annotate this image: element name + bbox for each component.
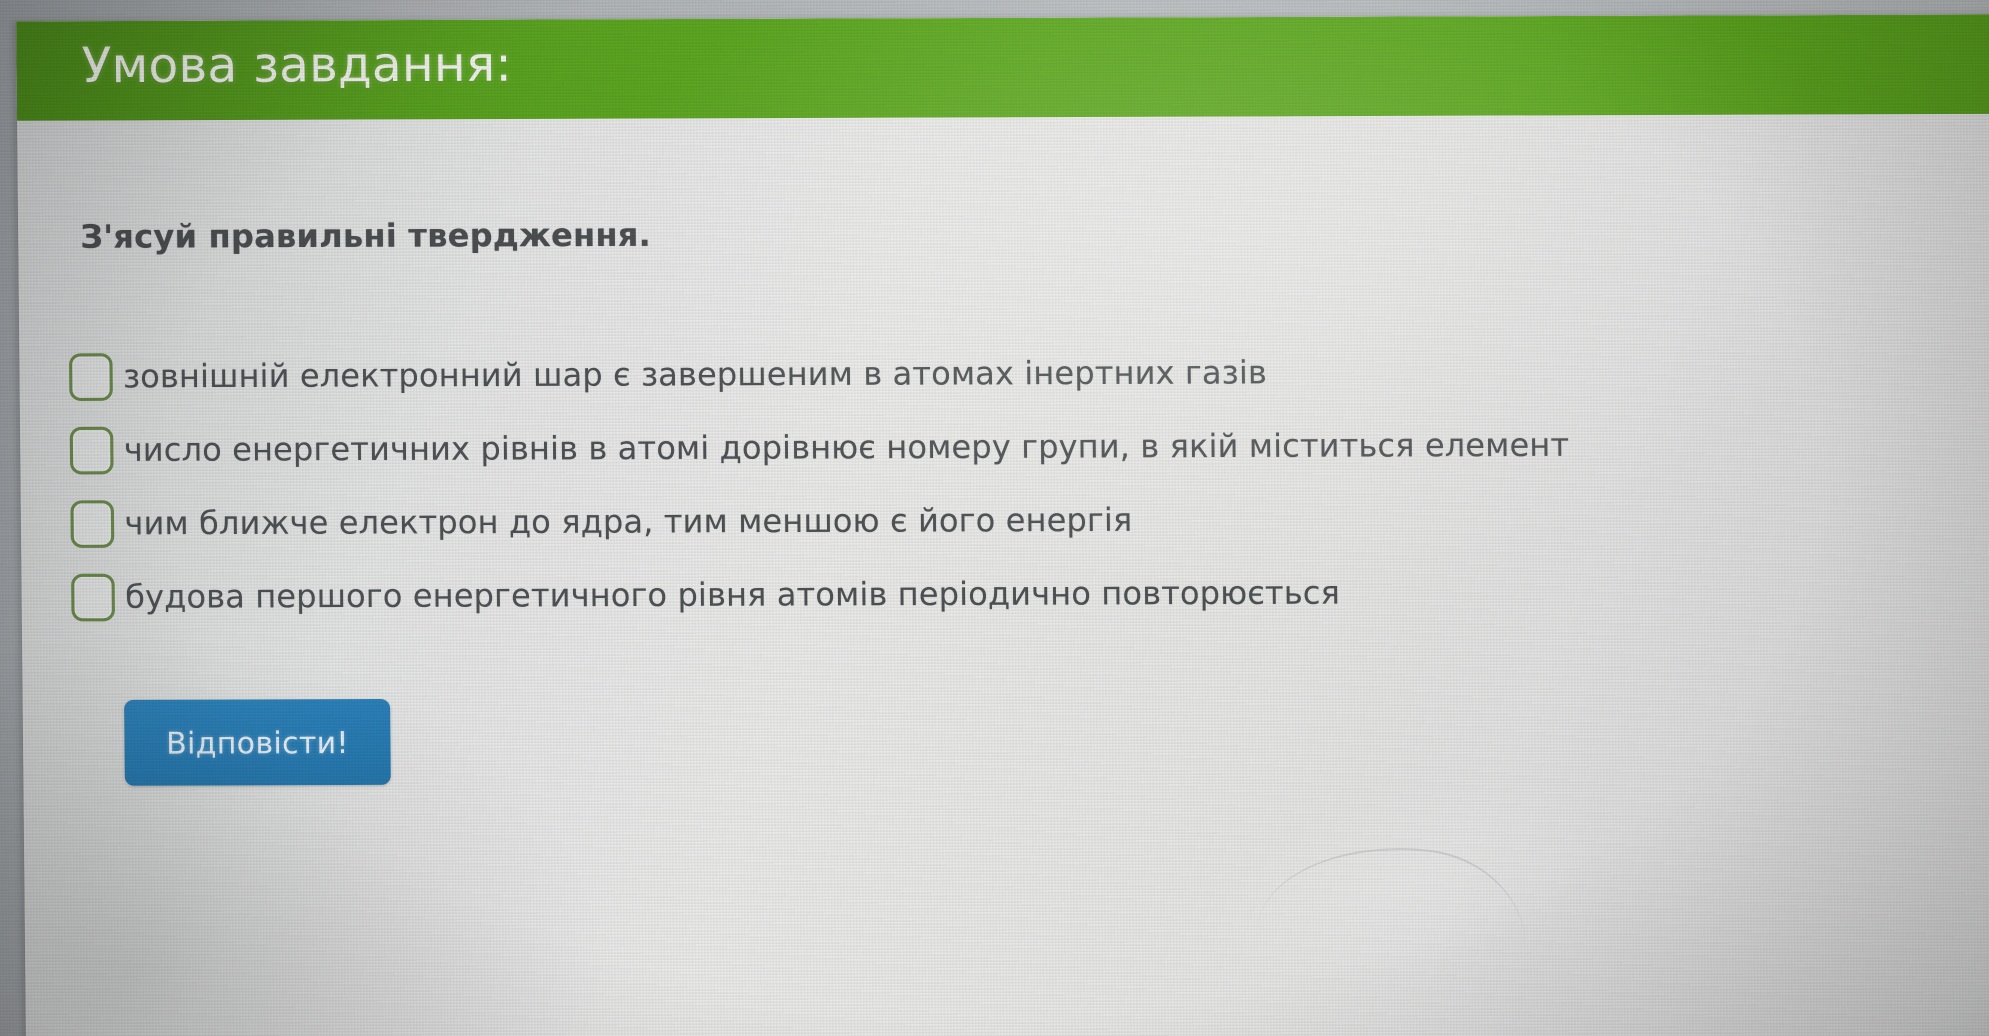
checkbox-unchecked-icon[interactable] — [70, 500, 114, 548]
option-row-2[interactable]: число енергетичних рівнів в атомі дорівн… — [70, 407, 1989, 487]
option-label-4: будова першого енергетичного рівня атомі… — [125, 574, 1340, 615]
submit-answer-button[interactable]: Відповісти! — [124, 699, 391, 786]
task-card: Умова завдання: З'ясуй правильні твердже… — [16, 14, 1989, 1036]
checkbox-unchecked-icon[interactable] — [70, 426, 114, 474]
question-prompt: З'ясуй правильні твердження. — [80, 217, 651, 256]
option-row-4[interactable]: будова першого енергетичного рівня атомі… — [71, 553, 1989, 633]
monitor-photograph: Умова завдання: З'ясуй правильні твердже… — [0, 0, 1989, 1036]
checkbox-unchecked-icon[interactable] — [69, 353, 113, 401]
checkbox-unchecked-icon[interactable] — [71, 573, 115, 621]
page-title: Умова завдання: — [81, 36, 512, 94]
option-label-3: чим ближче електрон до ядра, тим меншою … — [124, 501, 1132, 542]
card-header: Умова завдання: — [16, 14, 1989, 120]
options-list: зовнішній електронний шар є завершеним в… — [69, 333, 1989, 634]
option-label-2: число енергетичних рівнів в атомі дорівн… — [124, 426, 1570, 468]
screen-area: Умова завдання: З'ясуй правильні твердже… — [0, 0, 1989, 1036]
option-row-1[interactable]: зовнішній електронний шар є завершеним в… — [69, 333, 1989, 413]
card-body: З'ясуй правильні твердження. зовнішній е… — [17, 114, 1989, 1036]
option-row-3[interactable]: чим ближче електрон до ядра, тим меншою … — [70, 480, 1989, 560]
option-label-1: зовнішній електронний шар є завершеним в… — [123, 354, 1267, 395]
